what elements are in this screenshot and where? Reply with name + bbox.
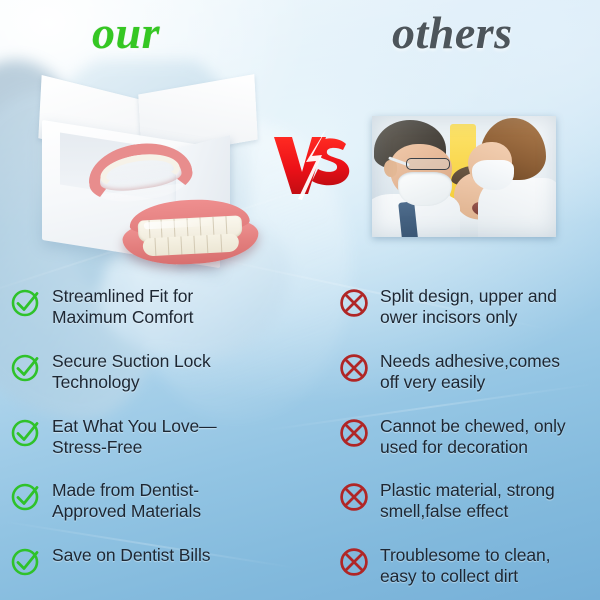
page-title-our: our [92, 6, 160, 59]
cross-circle-icon [338, 417, 370, 449]
list-item: Needs adhesive,comes off very easily [338, 351, 560, 393]
page-title-others: others [392, 6, 513, 59]
list-item-label: Streamlined Fit for Maximum Comfort [52, 286, 193, 328]
cross-circle-icon [338, 481, 370, 513]
list-item-label: Eat What You Love— Stress-Free [52, 416, 217, 458]
product-denture-in-box-image [34, 82, 262, 274]
list-item-label: Split design, upper and ower incisors on… [380, 286, 557, 328]
list-item-label: Troublesome to clean, easy to collect di… [380, 545, 550, 587]
check-circle-icon [10, 417, 42, 449]
check-circle-icon [10, 546, 42, 578]
check-circle-icon [10, 287, 42, 319]
list-item: Streamlined Fit for Maximum Comfort [10, 286, 193, 328]
cross-circle-icon [338, 352, 370, 384]
list-item: Made from Dentist- Approved Materials [10, 480, 201, 522]
comparison-poster: our others [0, 0, 600, 600]
list-item-label: Secure Suction Lock Technology [52, 351, 211, 393]
cross-circle-icon [338, 546, 370, 578]
list-item-label: Needs adhesive,comes off very easily [380, 351, 560, 393]
list-item-label: Made from Dentist- Approved Materials [52, 480, 201, 522]
comparison-columns: Streamlined Fit for Maximum Comfort Secu… [0, 286, 600, 586]
list-item: Troublesome to clean, easy to collect di… [338, 545, 550, 587]
list-item: Split design, upper and ower incisors on… [338, 286, 557, 328]
list-item-label: Plastic material, strong smell,false eff… [380, 480, 555, 522]
cons-column: Split design, upper and ower incisors on… [330, 286, 600, 586]
list-item: Save on Dentist Bills [10, 545, 210, 578]
list-item-label: Cannot be chewed, only used for decorati… [380, 416, 566, 458]
pros-column: Streamlined Fit for Maximum Comfort Secu… [0, 286, 330, 586]
list-item-label: Save on Dentist Bills [52, 545, 210, 566]
list-item: Eat What You Love— Stress-Free [10, 416, 217, 458]
list-item: Cannot be chewed, only used for decorati… [338, 416, 566, 458]
list-item: Secure Suction Lock Technology [10, 351, 211, 393]
list-item: Plastic material, strong smell,false eff… [338, 480, 555, 522]
dentist-procedure-photo [372, 116, 556, 237]
check-circle-icon [10, 481, 42, 513]
full-denture-set [120, 186, 260, 269]
check-circle-icon [10, 352, 42, 384]
vs-lightning-icon [268, 128, 354, 200]
cross-circle-icon [338, 287, 370, 319]
